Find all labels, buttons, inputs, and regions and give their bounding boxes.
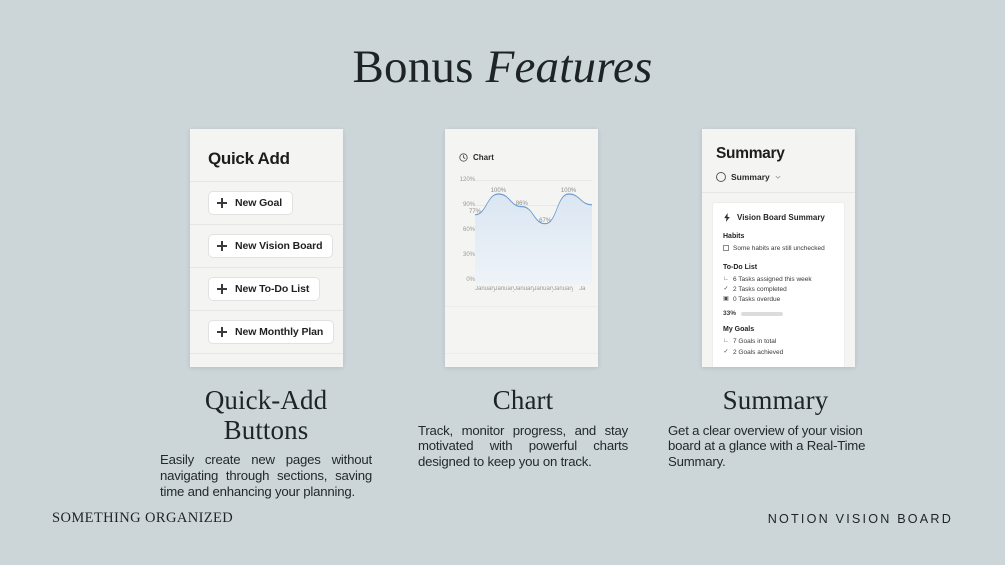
chart-data-label: 100% [561, 188, 576, 194]
list-item: ∟ 7 Goals in total [723, 337, 835, 347]
button-label: New Goal [235, 197, 282, 209]
list-item: ✓ 2 Tasks completed [723, 285, 835, 295]
chart-x-axis: January...January...January...January...… [475, 286, 592, 298]
section-heading-habits: Habits [723, 233, 835, 240]
x-axis-tick: Ja [573, 286, 593, 298]
chart-header: Chart [445, 153, 598, 162]
list-item: ▣ 0 Tasks overdue [723, 295, 835, 305]
list-item-text: 0 Tasks overdue [733, 295, 780, 305]
title-regular: Bonus [352, 41, 473, 93]
quick-add-row: New Monthly Plan [208, 311, 327, 353]
caption-heading: Quick-Add Buttons [160, 386, 372, 445]
summary-selector-label: Summary [731, 172, 770, 182]
list-item: Some habits are still unchecked [723, 244, 835, 255]
button-label: New Vision Board [235, 240, 322, 252]
panel-header: Vision Board Summary [723, 213, 835, 222]
chart-data-label: 67% [539, 218, 551, 224]
slide-canvas: Bonus Features Quick Add New Goal New Vi… [0, 0, 1005, 565]
page-title: Bonus Features [0, 44, 1005, 91]
new-todo-list-button[interactable]: New To-Do List [208, 277, 320, 301]
progress-track [741, 312, 783, 316]
footer-brand-right: NOTION VISION BOARD [768, 512, 953, 526]
plus-icon [217, 198, 227, 208]
button-label: New Monthly Plan [235, 326, 323, 338]
quick-add-row: New Goal [208, 182, 327, 224]
caption-summary: Summary Get a clear overview of your vis… [668, 386, 883, 469]
summary-title: Summary [702, 145, 855, 163]
caption-body: Easily create new pages without navigati… [160, 452, 372, 499]
caption-body: Track, monitor progress, and stay motiva… [418, 423, 628, 470]
x-axis-tick: January... [514, 286, 534, 298]
caption-quick-add: Quick-Add Buttons Easily create new page… [160, 386, 372, 499]
list-item-text: Some habits are still unchecked [733, 244, 825, 254]
quick-add-row: New To-Do List [208, 268, 327, 310]
summary-card: Summary Summary Vision Board Summary Hab… [702, 129, 855, 367]
x-axis-tick: January... [534, 286, 554, 298]
quick-add-row: New Vision Board [208, 225, 327, 267]
quick-add-card: Quick Add New Goal New Vision Board [190, 129, 343, 367]
check-icon: ✓ [723, 348, 729, 357]
list-item-text: 2 Tasks completed [733, 285, 787, 295]
vision-board-summary-panel: Vision Board Summary Habits Some habits … [712, 202, 845, 367]
x-axis-tick: January... [553, 286, 573, 298]
arrow-icon: ∟ [723, 337, 729, 346]
y-axis-tick: 90% [449, 202, 475, 208]
chart-header-label: Chart [473, 153, 494, 162]
x-axis-tick: January... [495, 286, 515, 298]
divider [702, 192, 855, 193]
caption-chart: Chart Track, monitor progress, and stay … [418, 386, 628, 469]
progress-percent-label: 33% [723, 310, 736, 317]
chart-data-label: 77% [469, 209, 481, 215]
button-label: New To-Do List [235, 283, 309, 295]
divider [190, 353, 343, 354]
plus-icon [217, 241, 227, 251]
list-item-text: 6 Tasks assigned this week [733, 275, 812, 285]
clock-icon [459, 153, 468, 162]
divider [445, 353, 598, 354]
lightning-bolt-icon [723, 213, 731, 222]
chart-data-label: 100% [491, 188, 506, 194]
new-monthly-plan-button[interactable]: New Monthly Plan [208, 320, 334, 344]
chart-card: Chart 120%90%60%30%0% [445, 129, 598, 367]
quick-add-title: Quick Add [208, 149, 327, 169]
check-icon: ✓ [723, 285, 729, 294]
section-heading-goals: My Goals [723, 326, 835, 333]
y-axis-tick: 30% [449, 252, 475, 258]
chart-data-label: 86% [516, 201, 528, 207]
caption-heading: Chart [418, 386, 628, 416]
todo-progress: 33% [723, 310, 835, 317]
chevron-down-icon [775, 174, 781, 180]
x-axis-tick: January... [475, 286, 495, 298]
plus-icon [217, 284, 227, 294]
divider [445, 306, 598, 307]
y-axis-tick: 0% [449, 277, 475, 283]
summary-view-selector[interactable]: Summary [702, 172, 855, 182]
caption-heading: Summary [668, 386, 883, 416]
box-icon: ▣ [723, 295, 729, 304]
caption-body: Get a clear overview of your vision boar… [668, 423, 883, 470]
new-vision-board-button[interactable]: New Vision Board [208, 234, 333, 258]
plus-icon [217, 327, 227, 337]
arrow-icon: ∟ [723, 275, 729, 284]
checkbox-empty-icon [723, 244, 729, 255]
list-item: ✓ 2 Goals achieved [723, 348, 835, 358]
panel-heading: Vision Board Summary [737, 213, 825, 222]
y-axis-tick: 120% [449, 177, 475, 183]
y-axis-tick: 60% [449, 227, 475, 233]
footer-brand-left: SOMETHING ORGANIZED [52, 510, 233, 527]
chart-series: 77%100%86%67%100% [475, 176, 592, 284]
list-item-text: 7 Goals in total [733, 337, 776, 347]
new-goal-button[interactable]: New Goal [208, 191, 293, 215]
list-item: ∟ 6 Tasks assigned this week [723, 275, 835, 285]
title-italic: Features [486, 41, 653, 93]
circle-icon [716, 172, 726, 182]
chart-plot-area: 120%90%60%30%0% 77%100%86%67%100% [445, 176, 592, 284]
list-item-text: 2 Goals achieved [733, 348, 783, 358]
section-heading-todo: To-Do List [723, 264, 835, 271]
